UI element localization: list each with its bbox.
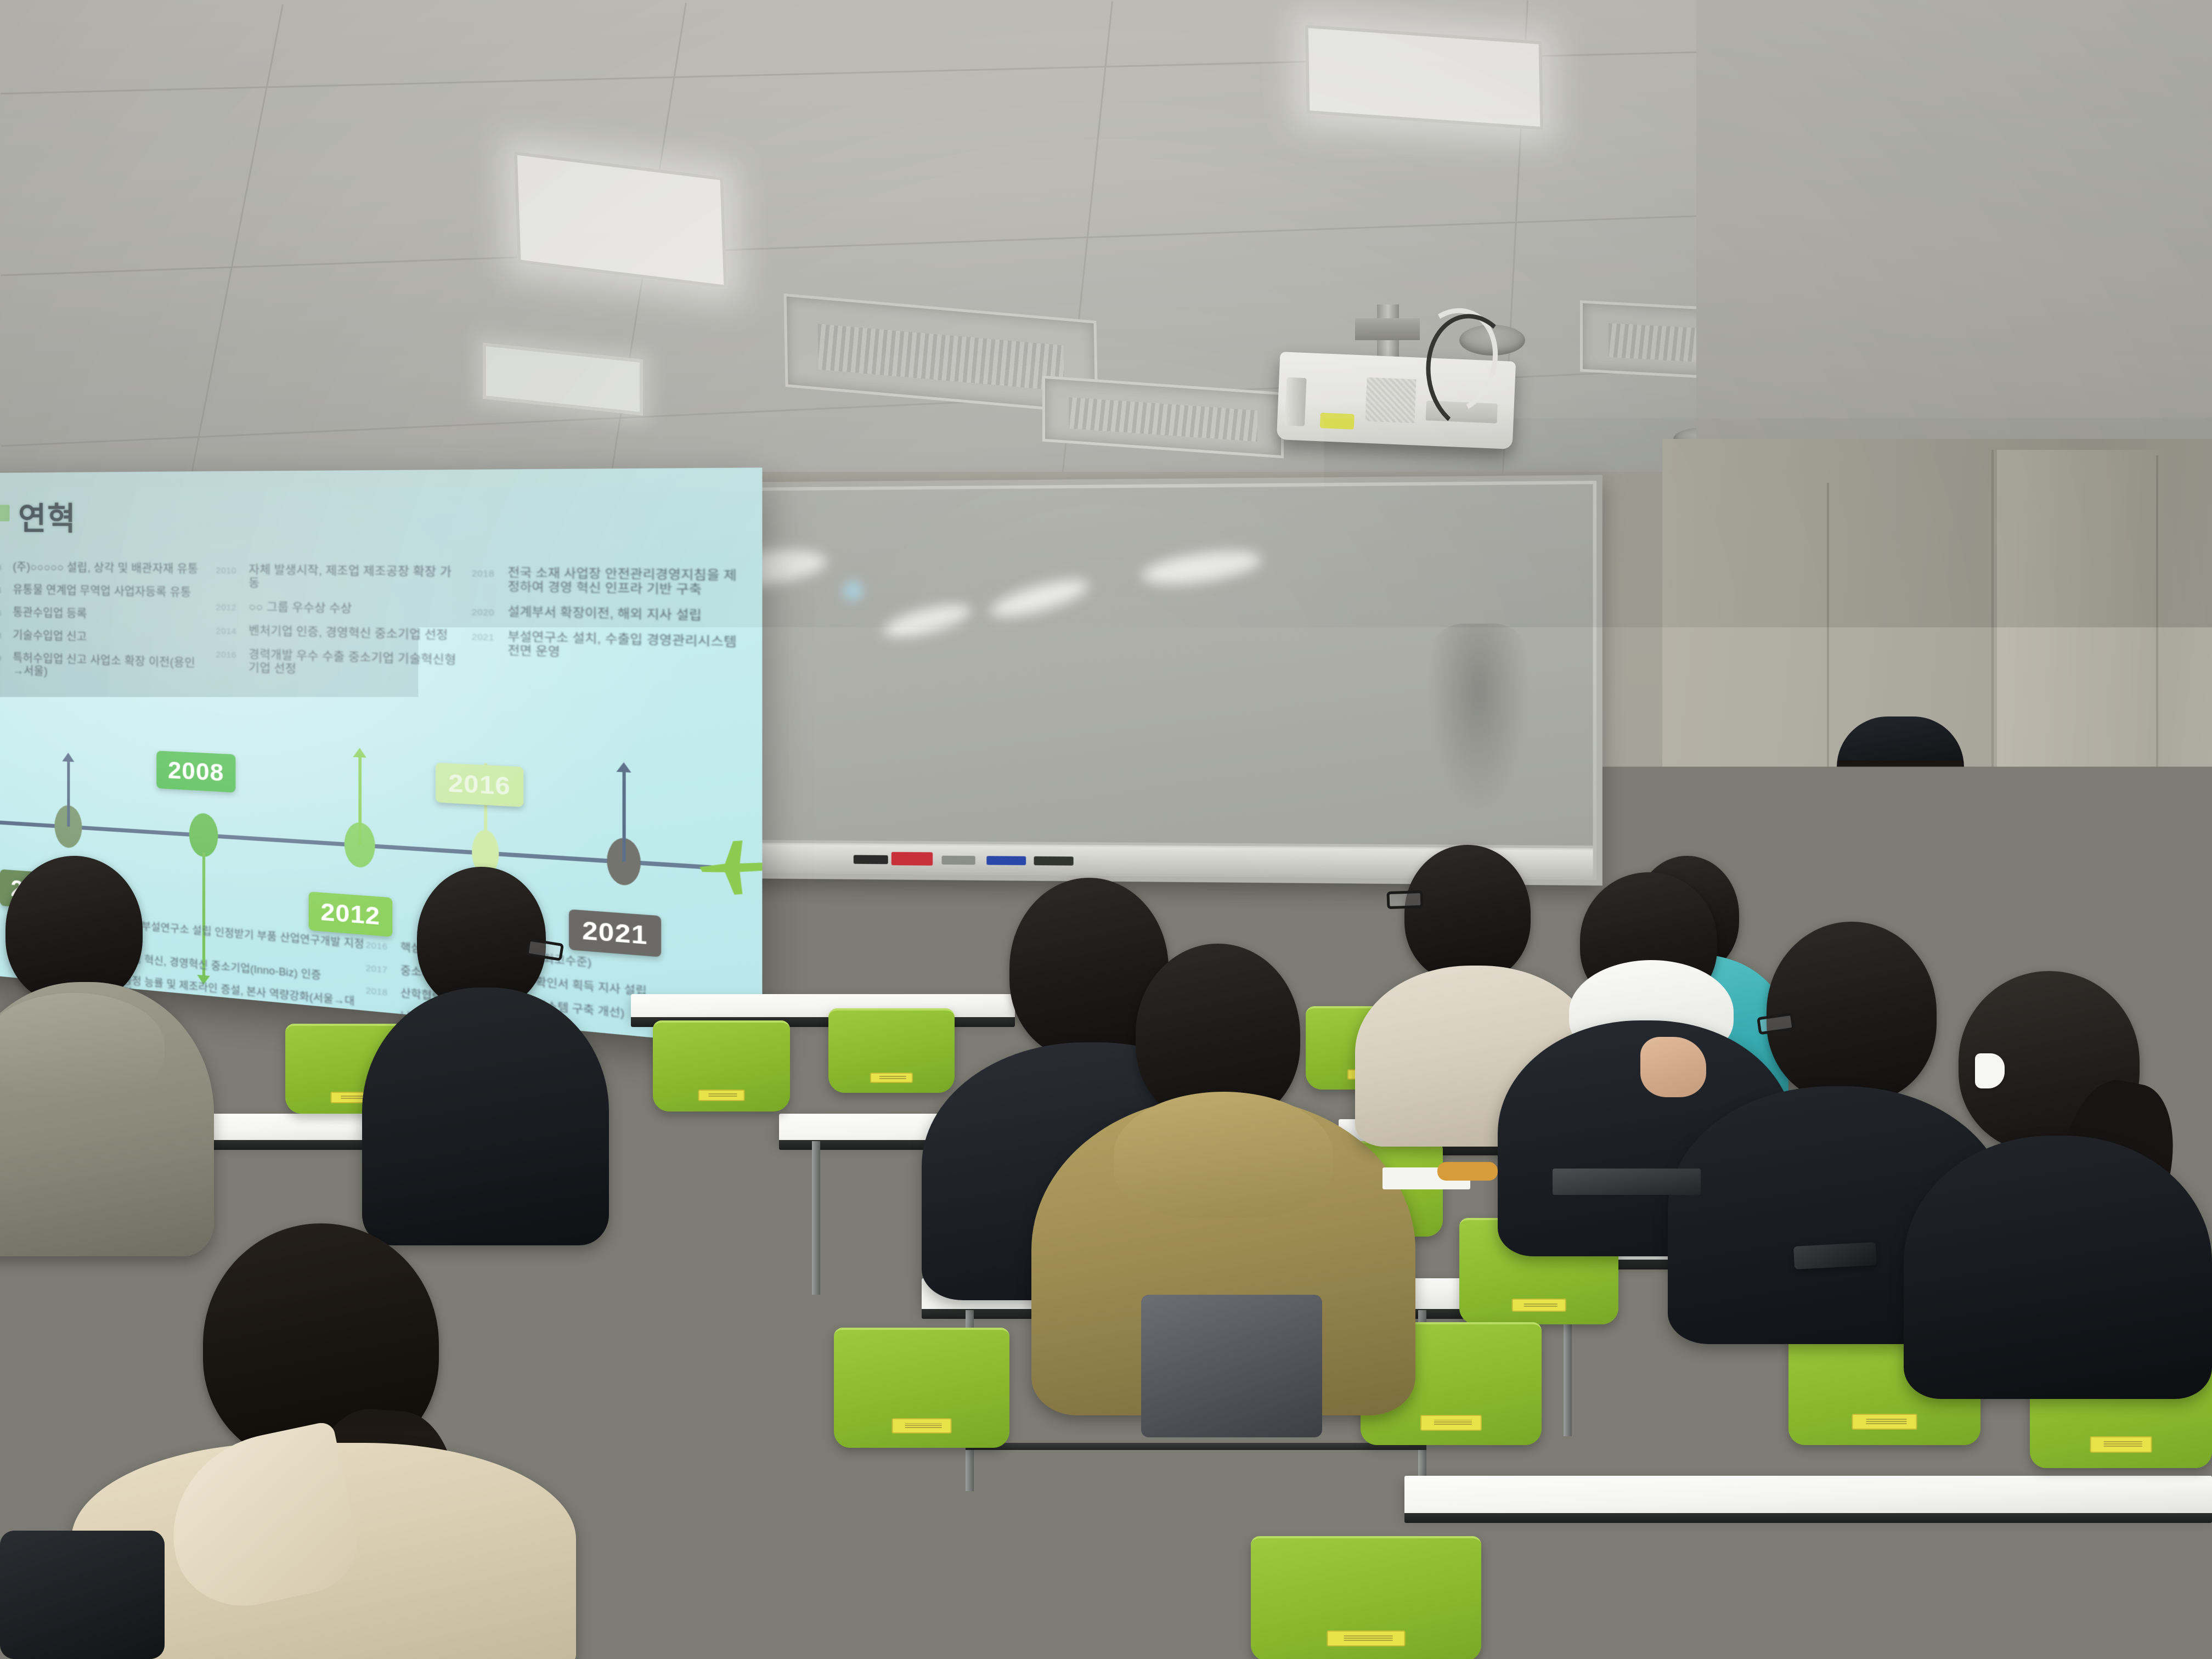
chair[interactable]	[834, 1328, 1009, 1446]
audience-member	[1893, 971, 2212, 1399]
glasses-icon	[1386, 890, 1423, 909]
audience-member	[351, 867, 614, 1240]
marker-black[interactable]	[1034, 856, 1074, 866]
event-text: 유통물 연계업 무역업 사업자등록 유통	[13, 584, 191, 600]
event-text: 부설연구소 설치, 수출입 경영관리시스템 전면 운영	[507, 630, 741, 665]
parka-hood	[1114, 1092, 1333, 1218]
presenter-shadow	[1429, 623, 1528, 811]
backpack[interactable]	[0, 1531, 165, 1659]
projector-asset-sticker	[1320, 413, 1355, 430]
event-year: 2008	[0, 631, 7, 641]
chair[interactable]	[653, 1020, 790, 1109]
presenter-hair	[1839, 760, 1962, 789]
slide-title: 연혁	[18, 494, 76, 539]
slide-column: 2018 전국 소재 사업장 안전관리경영지침을 제정하여 경영 혁신 인프라 …	[472, 566, 741, 714]
projector-vent	[1365, 377, 1416, 424]
marker-black[interactable]	[854, 855, 888, 864]
projector-mount-plate	[1355, 318, 1420, 340]
event-year: 2009	[0, 653, 7, 663]
slide-event: 2006 통관수입업 등록	[0, 606, 205, 624]
event-text: ○○ 그룹 우수상 수상	[249, 601, 352, 616]
slide-column: 2003 (주)○○○○○ 설립, 상각 및 배관자재 유통 2004 유통물 …	[0, 561, 205, 694]
event-year: 2010	[216, 566, 242, 575]
event-text: 특허수입업 신고 사업소 확장 이전(용인→서울)	[13, 652, 205, 684]
projector-lens	[1285, 377, 1307, 426]
event-text: 벤처기업 인증, 경영혁신 중소기업 선정	[249, 625, 448, 643]
mic-head	[1930, 788, 1961, 810]
mic-stand	[1942, 801, 1951, 871]
whiteboard-surface	[678, 484, 1593, 846]
slide-event: 2009 특허수입업 신고 사업소 확장 이전(용인→서울)	[0, 651, 205, 684]
slide-event: 2003 (주)○○○○○ 설립, 상각 및 배관자재 유통	[0, 561, 205, 577]
water-bottle[interactable]	[865, 1022, 895, 1118]
event-year: 2014	[216, 626, 242, 636]
event-text: 자체 발생시작, 제조업 제조공장 확장 가동	[249, 564, 460, 594]
presenter-mouth	[1883, 815, 1917, 830]
whiteboard-eraser[interactable]	[891, 852, 933, 866]
slide-event: 2008 기술수입업 신고	[0, 629, 205, 647]
torso	[362, 988, 609, 1245]
timeline-badge: 2008	[156, 751, 236, 792]
slide-event: 2004 유통물 연계업 무역업 사업자등록 유통	[0, 583, 205, 600]
event-year: 2016	[216, 650, 242, 660]
event-year: 2020	[472, 607, 500, 618]
event-year: 2003	[0, 563, 7, 573]
event-text: 설계부서 확장이전, 해외 지사 설립	[507, 606, 702, 624]
slide-event: 2020 설계부서 확장이전, 해외 지사 설립	[472, 605, 741, 624]
timeline-badge: 2016	[436, 763, 524, 807]
smartphone[interactable]	[1793, 1242, 1877, 1269]
bag[interactable]	[1141, 1295, 1322, 1437]
whiteboard	[669, 475, 1602, 886]
lectern-top	[1847, 885, 2092, 910]
marker-red[interactable]	[941, 856, 975, 865]
ceiling-light-panel	[1305, 25, 1544, 130]
event-year: 2006	[0, 608, 7, 618]
audience-member	[0, 856, 241, 1251]
airplane-icon	[696, 830, 762, 905]
slide-event: 2010 자체 발생시작, 제조업 제조공장 확장 가동	[216, 563, 460, 594]
event-year: 2004	[0, 585, 7, 595]
eyeglasses-case[interactable]	[1437, 1162, 1498, 1181]
ceiling-soffit	[1696, 0, 2212, 483]
desk	[1404, 1476, 2212, 1514]
clasped-hands	[1640, 1037, 1706, 1097]
chair[interactable]	[1251, 1536, 1481, 1659]
marker-blue[interactable]	[986, 856, 1026, 865]
slide-column: 2010 자체 발생시작, 제조업 제조공장 확장 가동 2012 ○○ 그룹 …	[216, 563, 460, 703]
event-text: 경력개발 우수 수출 중소기업 기술혁신형기업 선정	[249, 648, 460, 682]
event-text: 기술수입업 신고	[13, 629, 87, 644]
slide-event: 2016 경력개발 우수 수출 중소기업 기술혁신형기업 선정	[216, 647, 460, 682]
lecture-hall-photo: 연혁 2003 (주)○○○○○ 설립, 상각 및 배관자재 유통 2004 유…	[0, 0, 2212, 1659]
chair[interactable]	[1904, 1553, 2140, 1659]
slide-event: 2021 부설연구소 설치, 수출입 경영관리시스템 전면 운영	[472, 630, 741, 665]
slide-event: 2018 전국 소재 사업장 안전관리경영지침을 제정하여 경영 혁신 인프라 …	[472, 566, 741, 599]
torso	[1904, 1136, 2212, 1399]
event-text: 전국 소재 사업장 안전관리경영지침을 제정하여 경영 혁신 인프라 기반 구축	[507, 567, 741, 599]
event-year: 2018	[472, 568, 500, 579]
event-text: 통관수입업 등록	[13, 607, 87, 621]
slide-event: 2014 벤처기업 인증, 경영혁신 중소기업 선정	[216, 624, 460, 643]
face-mask	[1975, 1053, 2005, 1088]
slide-event: 2012 ○○ 그룹 우수상 수상	[216, 600, 460, 618]
event-text: (주)○○○○○ 설립, 상각 및 배관자재 유통	[13, 561, 198, 577]
event-year: 2012	[216, 602, 242, 613]
event-year: 2021	[472, 632, 500, 643]
mic-head	[1743, 786, 1775, 809]
slide-title-accent-bar	[0, 505, 10, 521]
laptop[interactable]	[1553, 1169, 1701, 1195]
slide-event-columns: 2003 (주)○○○○○ 설립, 상각 및 배관자재 유통 2004 유통물 …	[0, 561, 741, 714]
